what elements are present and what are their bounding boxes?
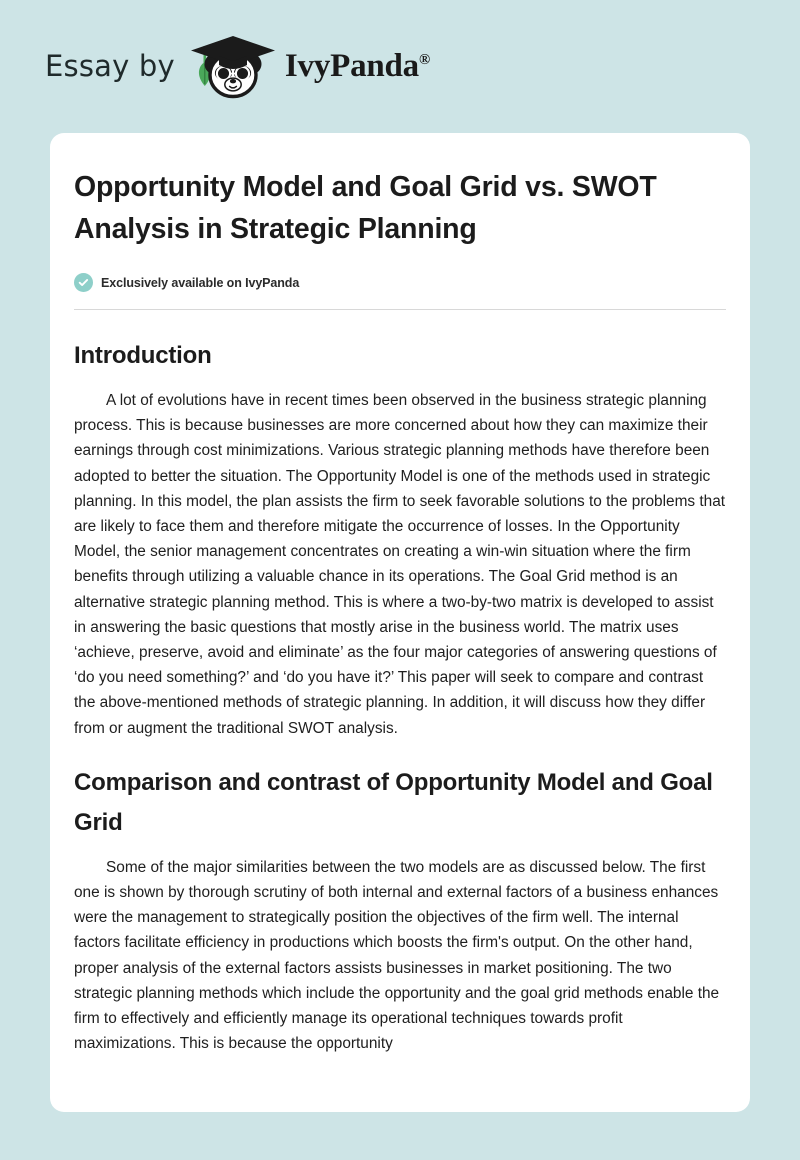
ivypanda-wordmark: IvyPanda®	[285, 50, 430, 83]
essay-by-label: Essay by	[45, 52, 175, 81]
section-heading-comparison: Comparison and contrast of Opportunity M…	[74, 741, 726, 843]
registered-trademark-icon: ®	[419, 52, 430, 68]
check-circle-icon	[74, 273, 93, 292]
status-badge: Exclusively available on IvyPanda	[74, 273, 726, 292]
section-paragraph-comparison: Some of the major similarities between t…	[74, 843, 726, 1057]
site-header: Essay by	[0, 0, 800, 133]
exclusive-availability-label: Exclusively available on IvyPanda	[101, 276, 299, 290]
section-paragraph-introduction: A lot of evolutions have in recent times…	[74, 376, 726, 741]
brand-lockup[interactable]: Essay by	[45, 34, 430, 100]
essay-card: Opportunity Model and Goal Grid vs. SWOT…	[50, 133, 750, 1112]
wordmark-text: IvyPanda	[285, 48, 419, 84]
essay-card-content: Opportunity Model and Goal Grid vs. SWOT…	[74, 133, 726, 1056]
panda-graduation-cap-logo	[185, 34, 275, 100]
section-heading-introduction: Introduction	[74, 310, 726, 376]
page-title: Opportunity Model and Goal Grid vs. SWOT…	[74, 133, 726, 250]
